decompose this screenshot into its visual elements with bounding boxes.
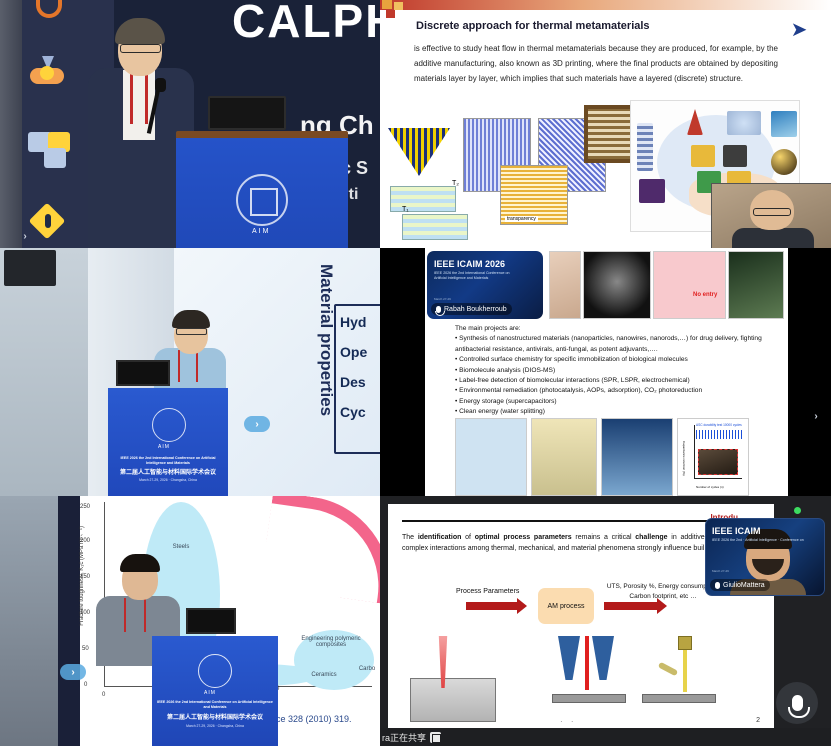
slide-top-accent-bar	[380, 0, 831, 10]
inset-chart-x-axis	[694, 478, 742, 479]
share-status-text: ra正在共享	[382, 731, 426, 744]
figure-fan-stripes	[388, 128, 450, 176]
slide-bullet-1: • Synthesis of nanostructured materials …	[455, 334, 785, 355]
diagram-process-box: AM process	[538, 588, 594, 624]
panel-slide-thermal-metamaterials[interactable]: Discrete approach for thermal metamateri…	[380, 0, 831, 248]
slide-bullet-2: • Controlled surface chemistry for speci…	[455, 355, 785, 365]
slide-bullet-4: Cyc	[340, 404, 366, 420]
chart-label-composites: Engineering polymeric composites	[298, 636, 364, 648]
podium-laptop	[116, 360, 170, 386]
pip-date: March 27-29	[712, 569, 729, 573]
inset-chart-series	[696, 430, 742, 439]
deco-square-3	[386, 10, 395, 18]
pip-name-bar: GiulioMattera	[710, 579, 770, 591]
chart-ytick-150: 150	[80, 574, 90, 580]
slide-bullet-3: Des	[340, 374, 366, 390]
figure-layered-block-2	[390, 186, 456, 212]
slide-bullet-6: • Energy storage (supercapacitors)	[455, 397, 785, 407]
auditorium-wall-left	[0, 496, 58, 746]
slide-divider	[402, 520, 732, 522]
podium-logo	[152, 408, 186, 442]
podium-line-1: IEEE 2026 the 2nd International Conferen…	[154, 700, 276, 710]
pager-dots[interactable]: · ·	[560, 717, 577, 726]
chart-label-ceramics: Ceramics	[300, 672, 348, 678]
pip-participant-tile[interactable]: IEEE ICAIM IEEE 2026 the 2nd · Artificia…	[705, 518, 825, 596]
podium-logo-text: AIM	[158, 444, 170, 450]
pip-participant-name: GiulioMattera	[723, 582, 765, 589]
chart-label-carbon: Carbo	[352, 666, 380, 672]
panel-keynote-speaker-calphad[interactable]: CALPH ng Ch ic S nsti AIM ›	[0, 0, 380, 248]
slide-bullet-2: Ope	[340, 344, 367, 360]
pip-name-bar: Rabah Boukherroub	[431, 303, 512, 315]
microphone-icon	[436, 306, 441, 313]
next-chevron-icon[interactable]: ›	[244, 416, 270, 432]
diagram-input-label: Process Parameters	[456, 588, 519, 595]
figure-transparency-lattice: transparency	[500, 165, 568, 225]
screen-share-status-bar: ra正在共享	[380, 728, 831, 746]
figure-tem-micrograph	[583, 251, 651, 319]
pip-subtitle: IEEE 2026 the 2nd International Conferen…	[434, 271, 520, 281]
chart-ytick-250: 250	[80, 504, 90, 510]
chart-trend-arrow	[260, 496, 380, 605]
slide-bullet-3: • Biomolecule analysis (DIOS-MS)	[455, 366, 785, 376]
chart-ytick-0: 0	[84, 682, 87, 688]
microphone-icon	[792, 695, 803, 711]
shared-screen-stage: IEEE ICAIM 2026 IEEE 2026 the 2nd Intern…	[425, 248, 788, 496]
figure-powder-bed-fusion	[406, 632, 502, 728]
no-entry-label: No entry	[693, 292, 717, 298]
panel-slide-nanostructured-projects[interactable]: IEEE ICAIM 2026 IEEE 2026 the 2nd Intern…	[380, 248, 831, 496]
stage-microphone-head	[155, 78, 166, 92]
chart-citation: ce 328 (2010) 319.	[276, 714, 352, 724]
podium-logo	[198, 654, 232, 688]
figure-organism-photo	[728, 251, 784, 319]
chart-label-steels: Steels	[158, 544, 204, 550]
next-chevron-icon[interactable]: ›	[12, 228, 38, 244]
screen-share-icon	[430, 732, 441, 743]
conference-screenshot-grid: CALPH ng Ch ic S nsti AIM › Discrete app…	[0, 0, 831, 746]
pip-title: IEEE ICAIM 2026	[434, 259, 505, 269]
next-chevron-icon[interactable]: ›	[60, 664, 86, 680]
pip-date: March 27-29	[434, 297, 451, 301]
deco-square-2	[394, 2, 403, 10]
panel-speaker-material-properties[interactable]: Material properties Hyd Ope Des Cyc AIM …	[0, 248, 380, 496]
slide-bullet-7: • Clean energy (water splitting)	[455, 407, 785, 417]
figure-wire-arc-deposition-b	[638, 632, 716, 728]
pip-subtitle: IEEE 2026 the 2nd · Artificial Intellige…	[712, 538, 824, 543]
inset-chart-title: ASC durability test 10000 cycles	[696, 423, 742, 427]
figure-sponge-samples	[531, 418, 597, 496]
inset-chart-y-axis	[694, 425, 695, 479]
pip-title: IEEE ICAIM	[712, 526, 761, 536]
podium-line-1: IEEE 2026 the 2nd International Conferen…	[112, 456, 224, 466]
inset-chart-xlabel: Number of cycles (n)	[696, 485, 724, 489]
puzzle-icon	[28, 132, 70, 168]
figure-biosensor-schematic: glass	[455, 418, 527, 496]
deco-square-1	[382, 0, 392, 9]
slide-body-text: The main projects are: • Synthesis of na…	[455, 324, 785, 418]
figure-durability-chart: ASC durability test 10000 cycles Capacit…	[677, 418, 749, 496]
pip-participant-name: Rabah Boukherroub	[444, 306, 507, 313]
podium-laptop	[186, 608, 236, 634]
inset-chart-ylabel: Capacitance retention (%)	[682, 441, 686, 476]
next-chevron-icon[interactable]: ›	[803, 408, 829, 424]
panel-speaker-fracture-toughness[interactable]: Fracture toughness, K₁c (MPa m¹ᐟ²) 0 50 …	[0, 496, 380, 746]
ceiling-speaker	[4, 250, 56, 286]
chart-xtick-0: 0	[102, 692, 105, 698]
podium-laptop	[208, 96, 286, 130]
podium-logo	[236, 174, 288, 226]
slide-paragraph: is effective to study heat flow in therm…	[414, 41, 778, 86]
online-status-dot	[794, 507, 801, 514]
slide-title: Discrete approach for thermal metamateri…	[416, 20, 650, 32]
slide-bullet-1: Hyd	[340, 314, 366, 330]
podium-logo-text: AIM	[204, 690, 216, 696]
slide-body-heading: The main projects are:	[455, 324, 785, 334]
figure-layered-block-1	[402, 214, 468, 240]
figure-sun-photo	[601, 418, 673, 496]
slide-bullet-5: • Environmental remediation (photocataly…	[455, 386, 785, 396]
slide-vertical-title: Material properties	[316, 264, 336, 416]
microphone-icon	[715, 582, 720, 589]
podium-line-3: March 27-29, 2026 · Changsha, China	[154, 724, 276, 728]
institution-logo-icon: ➤	[777, 16, 821, 42]
pip-remote-presenter-video[interactable]	[711, 183, 831, 248]
pip-participant-tile[interactable]: IEEE ICAIM 2026 IEEE 2026 the 2nd Intern…	[427, 251, 543, 319]
podium-logo-text: AIM	[252, 228, 270, 235]
figure-transparency-label: transparency	[505, 216, 538, 222]
backdrop-title: CALPH	[232, 0, 380, 48]
podium-line-3: March 27-29, 2026 · Changsha, China	[112, 478, 224, 482]
hand-spark-icon	[30, 56, 70, 84]
chart-ytick-100: 100	[80, 610, 90, 616]
diagram-arrow-left	[466, 602, 518, 610]
podium-line-2: 第二届人工智能与材料国际学术会议	[154, 712, 276, 721]
label-t2: T₂	[452, 180, 459, 187]
label-t1: T₁	[402, 206, 409, 213]
auditorium-dark-panel	[58, 496, 80, 746]
diagram-arrow-right	[604, 602, 658, 610]
slide-bullet-4: • Label-free detection of biomolecular i…	[455, 376, 785, 386]
figure-mouse-photo	[549, 251, 581, 319]
podium-line-2: 第二届人工智能与材料国际学术会议	[112, 467, 224, 476]
chart-ytick-50: 50	[82, 646, 89, 652]
wall-stripe	[0, 0, 22, 248]
figure-directed-energy-deposition-a	[548, 632, 630, 728]
inset-chart-photo	[698, 449, 738, 475]
microphone-button[interactable]	[776, 682, 818, 724]
panel-slide-additive-manufacturing[interactable]: Introdu The identification of optimal pr…	[380, 496, 831, 746]
figure-no-entry-diagram	[653, 251, 726, 319]
slide-page-number: 2	[756, 717, 760, 724]
inset-chart: ASC durability test 10000 cycles Capacit…	[682, 423, 744, 491]
chart-ytick-200: 200	[80, 538, 90, 544]
